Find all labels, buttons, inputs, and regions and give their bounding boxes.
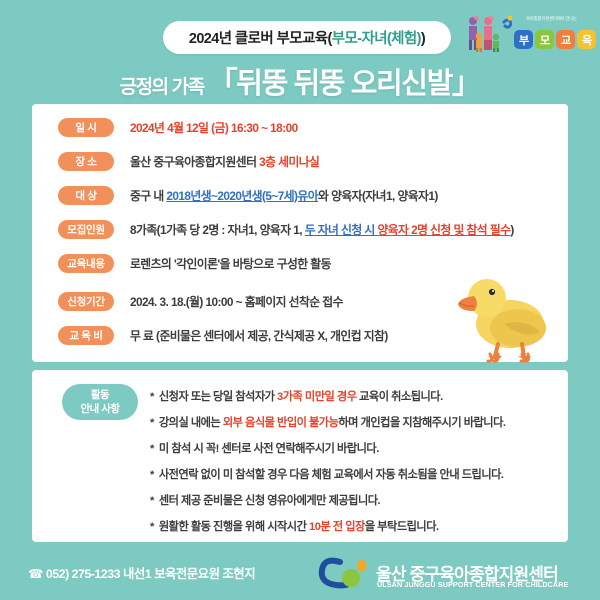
program-title-text: 2024년 클로버 부모교육(부모-자녀(체험)) (189, 27, 425, 48)
info-row-fee: 교 육 비 무 료 (준비물은 센터에서 제공, 간식제공 X, 개인컵 지참) (58, 320, 554, 350)
notice-bullet-star: * (150, 495, 154, 507)
info-value-capacity: 8가족(1가족 당 2명 : 자녀1, 양육자 1, 두 자녀 신청 시 양육자… (130, 221, 514, 238)
notice-line: *센터 제공 준비물은 신청 영유아에게만 제공됩니다. (150, 492, 380, 508)
info-value-application-period: 2024. 3. 18.(월) 10:00 ~ 홈페이지 선착순 접수 (130, 293, 343, 310)
parent-education-brand-logo: 육아종합지원센터에서 만나는 부 모 교 육 (464, 12, 592, 56)
poster-main-title: 긍정의 가족 「뒤뚱 뒤뚱 오리신발」 (0, 58, 600, 102)
notice-text-plain-2: 교육이 취소됩니다. (359, 391, 443, 403)
info-label-location: 장 소 (58, 152, 114, 171)
notice-text-plain: 강의실 내에는 (159, 417, 223, 429)
info-capacity-note-blue: 두 자녀 신청 시 (305, 223, 378, 237)
poster-header: 2024년 클로버 부모교육(부모-자녀(체험)) 육 (0, 0, 600, 110)
main-title-open-bracket: 「 (208, 67, 237, 100)
notice-bullet-star: * (150, 417, 154, 429)
program-title-suffix: ) (421, 31, 425, 47)
program-title-pill: 2024년 클로버 부모교육(부모-자녀(체험)) (163, 21, 451, 54)
main-title-subtext: 긍정의 가족 (120, 77, 208, 98)
notice-line: *원활한 활동 진행을 위해 시작시간 10분 전 입장을 부탁드립니다. (150, 518, 439, 534)
notice-text-plain: 사전연락 없이 미 참석할 경우 다음 체험 교육에서 자동 취소됨을 안내 드… (159, 469, 504, 481)
center-logo-mark-icon (318, 556, 372, 590)
info-row-application-period: 신청기간 2024. 3. 18.(월) 10:00 ~ 홈페이지 선착순 접수 (58, 286, 554, 316)
info-application-period-value: 2024. 3. 18.(월) 10:00 ~ 홈페이지 선착순 접수 (130, 295, 343, 309)
info-target-suffix: 와 양육자(자녀1, 양육자1) (318, 189, 438, 203)
main-title-close-bracket: 」 (452, 67, 481, 100)
notice-badge-line2: 안내 사항 (80, 402, 119, 416)
notice-text-plain: 신청자 또는 당일 참석자가 (159, 391, 277, 403)
info-value-location: 울산 중구육아종합지원센터 3층 세미나실 (130, 153, 319, 170)
info-fee-value: 무 료 (준비물은 센터에서 제공, 간식제공 X, 개인컵 지참) (130, 329, 388, 343)
info-capacity-suffix: ) (510, 223, 513, 237)
notice-text-highlight: 3가족 미만일 경우 (277, 391, 359, 403)
notice-bullet-star: * (150, 521, 154, 533)
notice-bullet-star: * (150, 391, 154, 403)
program-info-card: 일 시 2024년 4월 12일 (금) 16:30 ~ 18:00 장 소 울… (32, 104, 568, 362)
program-title-prefix: 2024년 클로버 부모교육( (189, 31, 332, 47)
info-label-fee: 교 육 비 (58, 326, 114, 345)
telephone-icon: ☎ (28, 567, 43, 581)
notice-text-plain-2: 하며 개인컵을 지참해주시기 바랍니다. (338, 417, 505, 429)
notice-bullet-star: * (150, 469, 154, 481)
family-figures-icon (464, 14, 512, 54)
info-row-content: 교육내용 로렌츠의 '각인이론'을 바탕으로 구성한 활동 (58, 248, 554, 278)
info-label-capacity: 모집인원 (58, 220, 114, 239)
info-row-date: 일 시 2024년 4월 12일 (금) 16:30 ~ 18:00 (58, 112, 554, 142)
brand-word-row: 부 모 교 육 (514, 30, 596, 49)
info-capacity-prefix: 8가족(1가족 당 2명 : 자녀1, 양육자 1, (130, 223, 305, 237)
program-title-accent: 부모-자녀(체험) (332, 31, 421, 47)
brand-char-1: 모 (535, 30, 554, 49)
notice-text-plain: 센터 제공 준비물은 신청 영유아에게만 제공됩니다. (159, 495, 380, 507)
footer-phone-text: 052) 275-1233 내선1 보육전문요원 조현지 (46, 567, 255, 581)
info-label-application-period: 신청기간 (58, 292, 114, 311)
footer-center-name-en: ULSAN JUNGGU SUPPORT CENTER FOR CHILDCAR… (377, 580, 568, 589)
notice-line: *강의실 내에는 외부 음식물 반입이 불가능하며 개인컵을 지참해주시기 바랍… (150, 414, 506, 430)
brand-char-3: 육 (577, 30, 596, 49)
notice-badge-line1: 활동 (91, 388, 109, 402)
info-value-fee: 무 료 (준비물은 센터에서 제공, 간식제공 X, 개인컵 지참) (130, 327, 388, 344)
notice-badge: 활동 안내 사항 (62, 384, 138, 420)
footer-contact: ☎ 052) 275-1233 내선1 보육전문요원 조현지 (28, 564, 255, 582)
notice-text-plain-2: 을 부탁드립니다. (365, 521, 439, 533)
info-row-capacity: 모집인원 8가족(1가족 당 2명 : 자녀1, 양육자 1, 두 자녀 신청 … (58, 214, 554, 244)
info-label-date: 일 시 (58, 118, 114, 137)
notice-text-highlight: 외부 음식물 반입이 불가능 (223, 417, 339, 429)
brand-char-0: 부 (514, 30, 533, 49)
info-row-location: 장 소 울산 중구육아종합지원센터 3층 세미나실 (58, 146, 554, 176)
info-value-target: 중구 내 2018년생~2020년생(5~7세)유아와 양육자(자녀1, 양육자… (130, 187, 438, 204)
info-value-date: 2024년 4월 12일 (금) 16:30 ~ 18:00 (130, 119, 298, 136)
info-date-value: 2024년 4월 12일 (금) 16:30 ~ 18:00 (130, 121, 298, 135)
notice-text-highlight: 10분 전 입장 (309, 521, 365, 533)
main-title-program-name: 뒤뚱 뒤뚱 오리신발 (236, 68, 452, 100)
notice-line: *사전연락 없이 미 참석할 경우 다음 체험 교육에서 자동 취소됨을 안내 … (150, 466, 504, 482)
info-label-content: 교육내용 (58, 254, 114, 273)
notice-line: *신청자 또는 당일 참석자가 3가족 미만일 경우 교육이 취소됩니다. (150, 388, 443, 404)
info-label-target: 대 상 (58, 186, 114, 205)
brand-char-2: 교 (556, 30, 575, 49)
notice-line: *미 참석 시 꼭! 센터로 사전 연락해주시기 바랍니다. (150, 440, 379, 456)
activity-notice-card: 활동 안내 사항 *신청자 또는 당일 참석자가 3가족 미만일 경우 교육이 … (32, 370, 568, 542)
poster-footer: ☎ 052) 275-1233 내선1 보육전문요원 조현지 울산 중구육아종합… (0, 544, 600, 600)
info-content-value: 로렌츠의 '각인이론'을 바탕으로 구성한 활동 (130, 257, 331, 271)
info-location-room: 3층 세미나실 (259, 155, 319, 169)
notice-text-plain: 원활한 활동 진행을 위해 시작시간 (159, 521, 309, 533)
info-target-prefix: 중구 내 (130, 189, 166, 203)
info-capacity-note-red: 양육자 2명 신청 및 참석 필수 (377, 223, 510, 237)
info-target-age: 2018년생~2020년생(5~7세)유아 (166, 189, 318, 203)
info-row-target: 대 상 중구 내 2018년생~2020년생(5~7세)유아와 양육자(자녀1,… (58, 180, 554, 210)
info-value-content: 로렌츠의 '각인이론'을 바탕으로 구성한 활동 (130, 255, 331, 272)
brand-tagline: 육아종합지원센터에서 만나는 (526, 16, 577, 22)
notice-text-plain: 미 참석 시 꼭! 센터로 사전 연락해주시기 바랍니다. (159, 443, 379, 455)
notice-bullet-star: * (150, 443, 154, 455)
info-location-venue: 울산 중구육아종합지원센터 (130, 155, 259, 169)
